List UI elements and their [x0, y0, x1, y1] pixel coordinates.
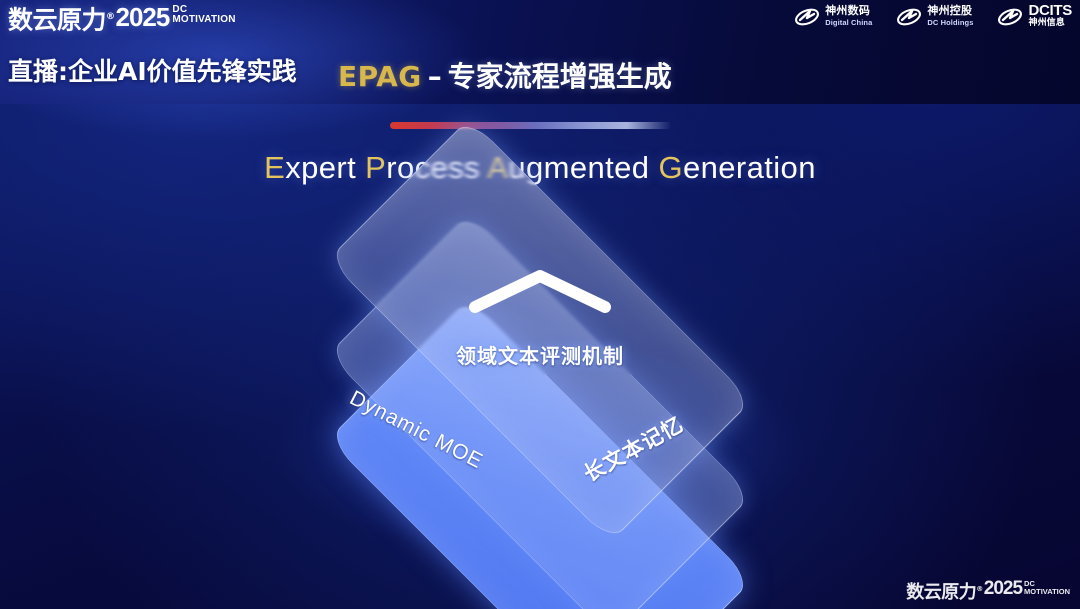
stack-layer-top: [275, 215, 805, 445]
partner-name-cn: 神州数码: [825, 6, 872, 16]
partner-logo-dc-holdings: 神州控股 DC Holdings: [896, 6, 973, 28]
top-banner: 数云原力® 2025 DC MOTIVATION 直播:企业AI价值先锋实践 E…: [0, 0, 1080, 104]
watermark-subtag: DC MOTIVATION: [1024, 580, 1070, 596]
registered-mark: ®: [976, 585, 983, 593]
brand-logo: 数云原力® 2025 DC MOTIVATION: [8, 3, 236, 34]
partner-name-cn: 神州控股: [927, 6, 973, 16]
partner-label: 神州控股 DC Holdings: [927, 6, 973, 28]
title-dash: –: [422, 60, 448, 93]
live-session-title: 直播:企业AI价值先锋实践: [8, 52, 297, 88]
partner-name-cn: DCITS: [1028, 6, 1072, 16]
swirl-logo-icon: [896, 6, 922, 28]
gradient-divider: [390, 122, 672, 129]
subtitle-word-expert: Expert: [264, 150, 356, 185]
brand-year: 2025: [116, 3, 170, 31]
subtitle-word-generation: Generation: [658, 150, 815, 185]
subtitle-cap: P: [365, 150, 386, 185]
partner-label: DCITS 神州信息: [1028, 6, 1072, 28]
brand-motivation-text: MOTIVATION: [172, 15, 235, 25]
title-chinese: 专家流程增强生成: [448, 60, 672, 93]
brand-subtag: DC MOTIVATION: [172, 5, 235, 25]
subtitle-rest: xpert: [285, 150, 356, 185]
bottom-watermark-logo: 数云原力® 2025 DC MOTIVATION: [906, 579, 1070, 603]
registered-mark: ®: [106, 12, 115, 22]
watermark-year: 2025: [984, 579, 1022, 599]
subtitle-rest: eneration: [683, 150, 816, 185]
brand-name-cn: 数云原力®: [8, 3, 115, 34]
swirl-logo-icon: [794, 6, 820, 28]
partner-logos: 神州数码 Digital China 神州控股 DC Holdings: [794, 6, 1072, 28]
layer-stack-diagram: 领域文本评测机制 Dynamic MOE 长文本记忆 三类语义建模模块: [275, 215, 805, 585]
subtitle-expansion: Expert Process Augmented Generation: [0, 150, 1080, 186]
slide-canvas: 数云原力® 2025 DC MOTIVATION 直播:企业AI价值先锋实践 E…: [0, 0, 1080, 609]
partner-logo-dcits: DCITS 神州信息: [997, 6, 1072, 28]
subtitle-cap: E: [264, 150, 285, 185]
partner-label: 神州数码 Digital China: [825, 6, 872, 28]
watermark-motivation-text: MOTIVATION: [1024, 588, 1070, 596]
title-acronym: EPAG: [338, 60, 422, 93]
watermark-name-cn: 数云原力®: [906, 579, 983, 603]
partner-logo-digital-china: 神州数码 Digital China: [794, 6, 872, 28]
partner-name-en: Digital China: [825, 18, 872, 28]
partner-name-en: DC Holdings: [927, 18, 973, 28]
subtitle-cap: G: [658, 150, 683, 185]
swirl-logo-icon: [997, 6, 1023, 28]
page-title: EPAG–专家流程增强生成: [338, 55, 672, 95]
partner-name-en: 神州信息: [1028, 18, 1072, 28]
